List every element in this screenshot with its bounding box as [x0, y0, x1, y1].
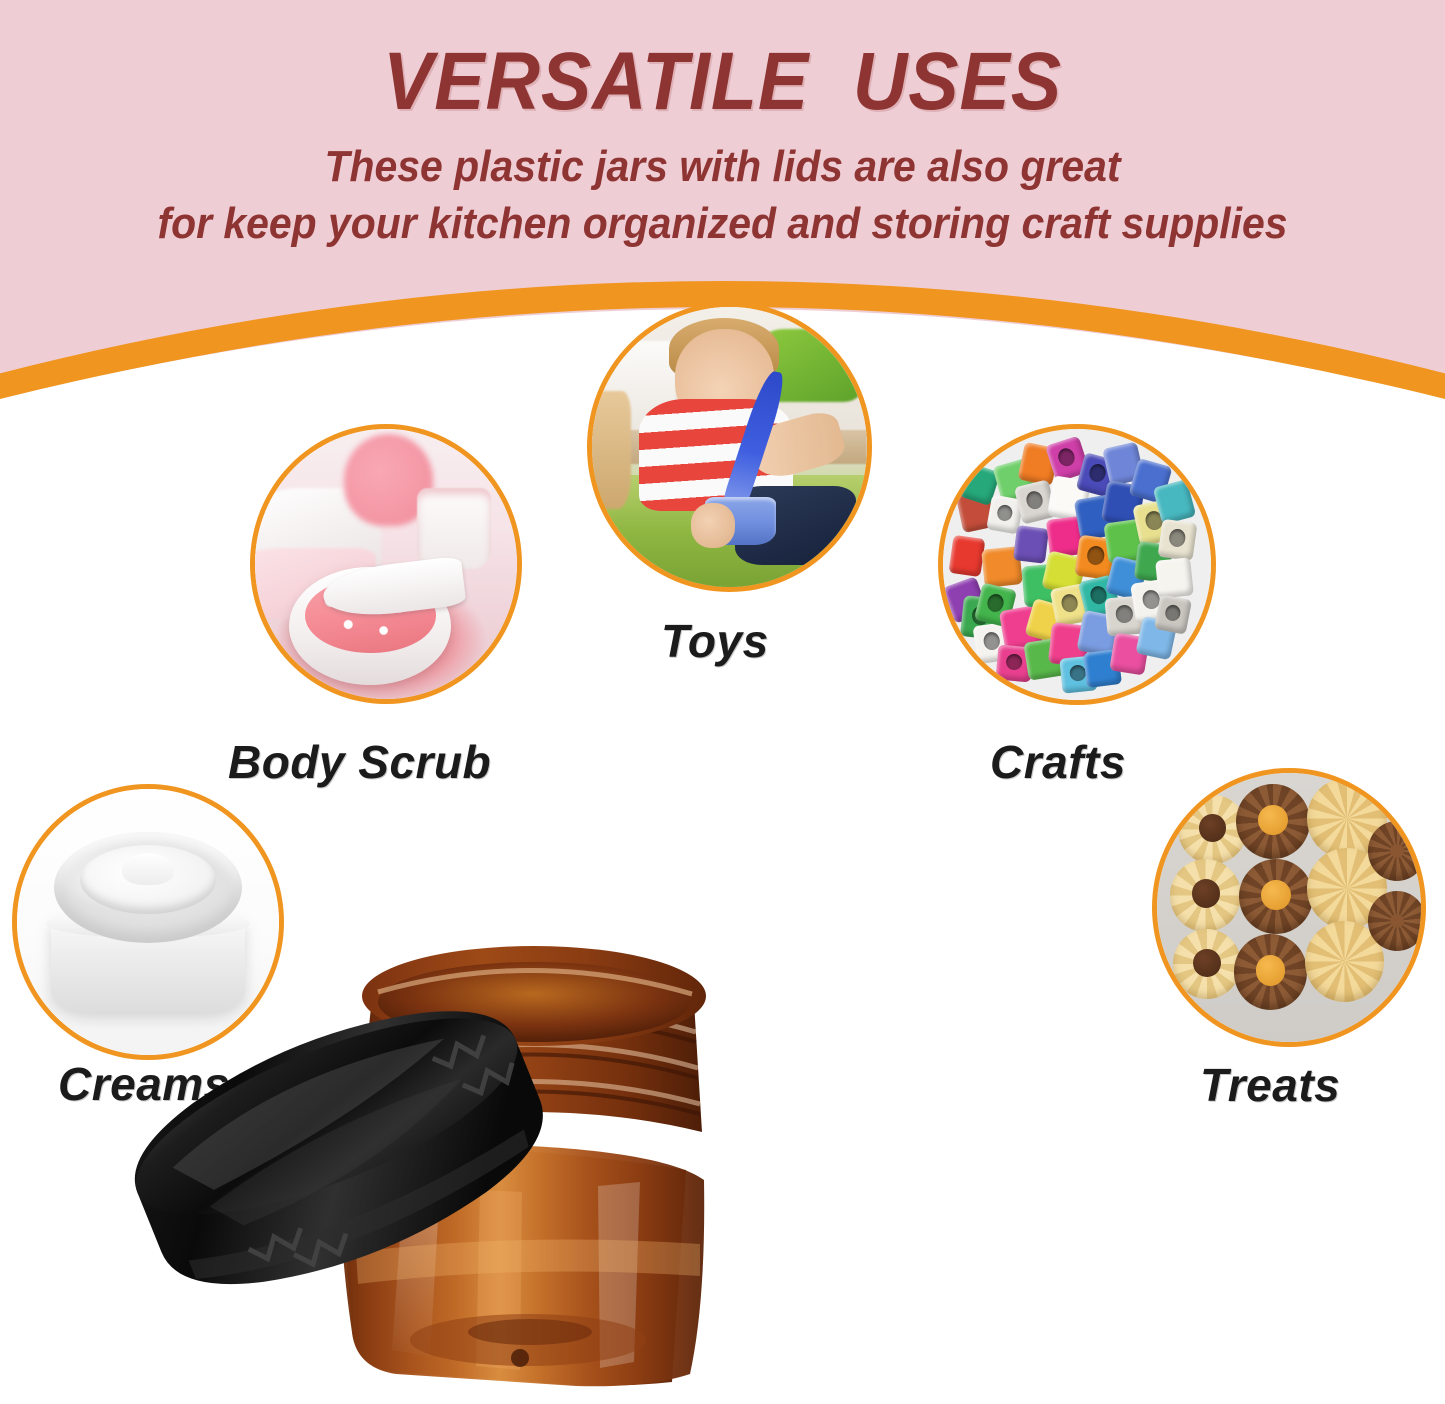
- treat-cookie: [1173, 929, 1242, 999]
- use-case-circle-toys: [587, 302, 872, 592]
- treats-cookies-photo: [1157, 773, 1421, 1042]
- cookie-center-dot: [1199, 814, 1226, 842]
- use-case-circle-treats: [1152, 768, 1426, 1047]
- use-case-label-toys: Toys: [661, 614, 769, 668]
- use-case-label-crafts: Crafts: [990, 735, 1126, 789]
- craft-bead: [1156, 557, 1195, 598]
- page-subtitle: These plastic jars with lids are also gr…: [51, 124, 1395, 252]
- subtitle-line-2: for keep your kitchen organized and stor…: [51, 195, 1395, 252]
- cookie-center-dot: [1261, 880, 1291, 910]
- toys-photo: [592, 307, 867, 587]
- use-case-circle-crafts: [938, 424, 1216, 705]
- use-case-circle-body-scrub: [250, 424, 522, 704]
- use-case-label-treats: Treats: [1200, 1058, 1340, 1112]
- treat-cookie: [1236, 784, 1310, 859]
- treat-cookie: [1368, 821, 1426, 880]
- craft-bead: [949, 535, 986, 577]
- treat-cookie: [1368, 891, 1426, 950]
- subtitle-line-1: These plastic jars with lids are also gr…: [51, 138, 1395, 195]
- craft-bead: [1158, 519, 1198, 561]
- versatile-uses-infographic: VERSATILE USES These plastic jars with l…: [0, 0, 1445, 1404]
- use-case-label-body-scrub: Body Scrub: [228, 735, 491, 789]
- cookie-center-dot: [1256, 955, 1286, 985]
- page-title: VERSATILE USES: [58, 0, 1387, 124]
- cookie-center-dot: [1193, 949, 1220, 977]
- cookie-center-dot: [1192, 879, 1221, 908]
- craft-bead: [1154, 594, 1192, 635]
- body-scrub-photo: [255, 429, 517, 699]
- treat-cookie: [1239, 859, 1313, 934]
- crafts-beads-photo: [943, 429, 1211, 700]
- treat-cookie: [1234, 934, 1308, 1009]
- product-image-amber-jar-with-black-lid: [0, 880, 1130, 1404]
- treat-cookie: [1170, 859, 1241, 932]
- header-text-block: VERSATILE USES These plastic jars with l…: [0, 0, 1445, 252]
- craft-bead: [1013, 525, 1049, 564]
- cookie-center-dot: [1258, 805, 1288, 835]
